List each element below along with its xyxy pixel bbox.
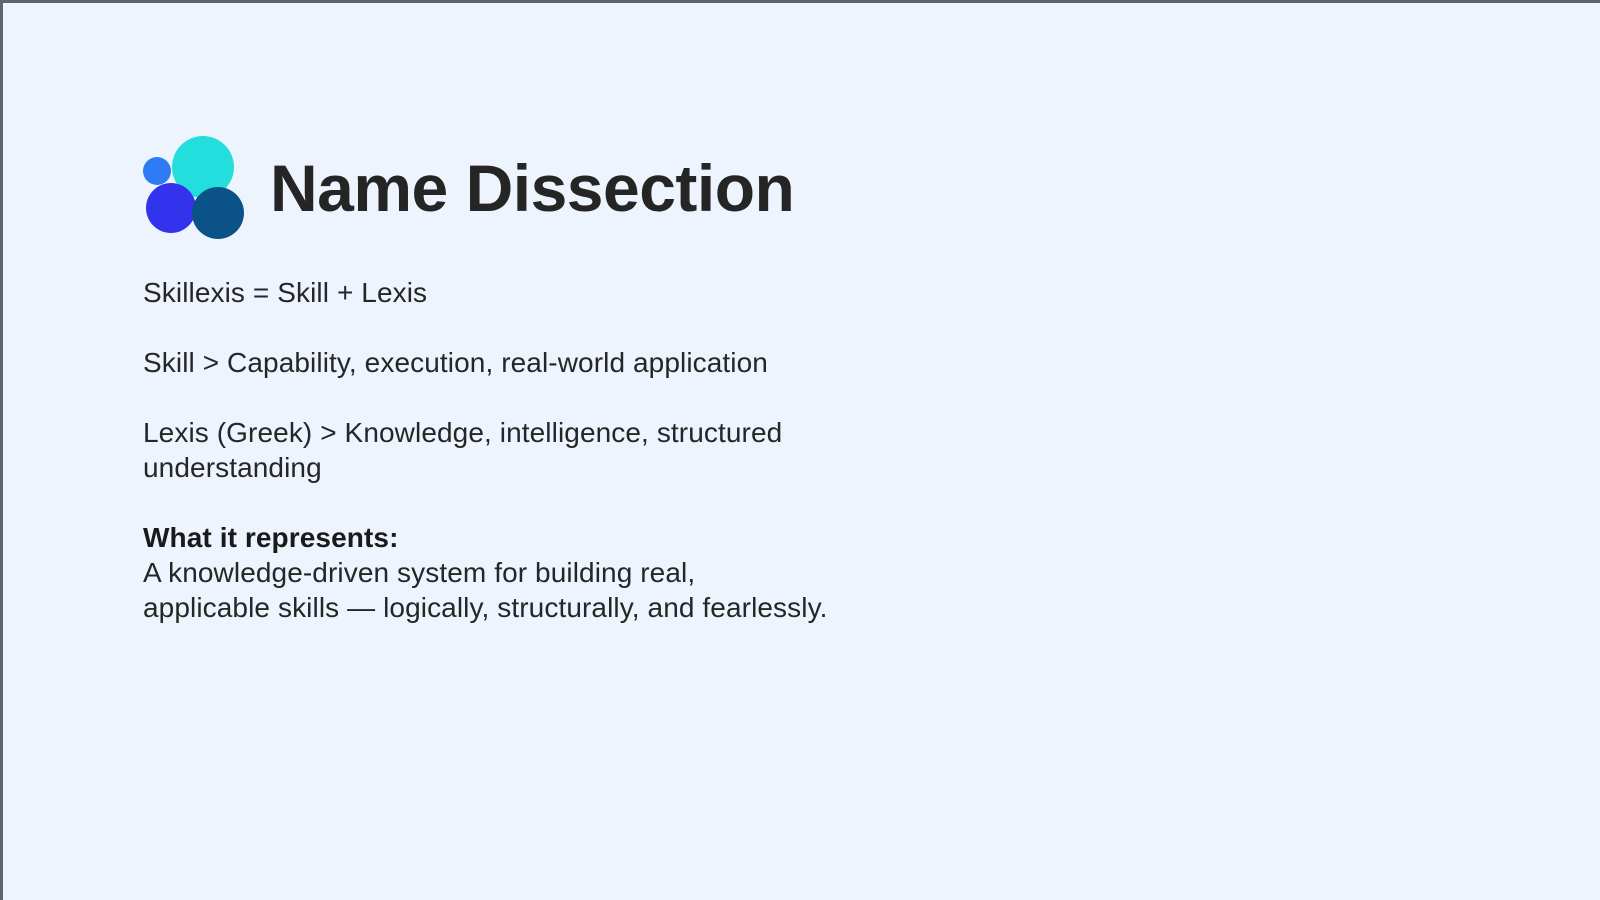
equation-text: Skillexis = Skill + Lexis <box>143 275 923 310</box>
slide-header: Name Dissection <box>136 136 794 240</box>
represents-line-2: applicable skills — logically, structura… <box>143 590 923 625</box>
skillexis-logo <box>136 136 244 240</box>
navy-circle-icon <box>192 187 244 239</box>
represents-block: What it represents: A knowledge-driven s… <box>143 520 923 625</box>
slide-canvas: Name Dissection Skillexis = Skill + Lexi… <box>0 0 1600 900</box>
slide-body: Skillexis = Skill + Lexis Skill > Capabi… <box>143 275 923 625</box>
small-blue-dot-icon <box>143 157 171 185</box>
skill-definition-text: Skill > Capability, execution, real-worl… <box>143 345 923 380</box>
indigo-circle-icon <box>146 183 196 233</box>
represents-line-1: A knowledge-driven system for building r… <box>143 555 923 590</box>
represents-heading: What it represents: <box>143 520 923 555</box>
lexis-definition-text: Lexis (Greek) > Knowledge, intelligence,… <box>143 415 923 485</box>
page-title: Name Dissection <box>244 155 794 221</box>
